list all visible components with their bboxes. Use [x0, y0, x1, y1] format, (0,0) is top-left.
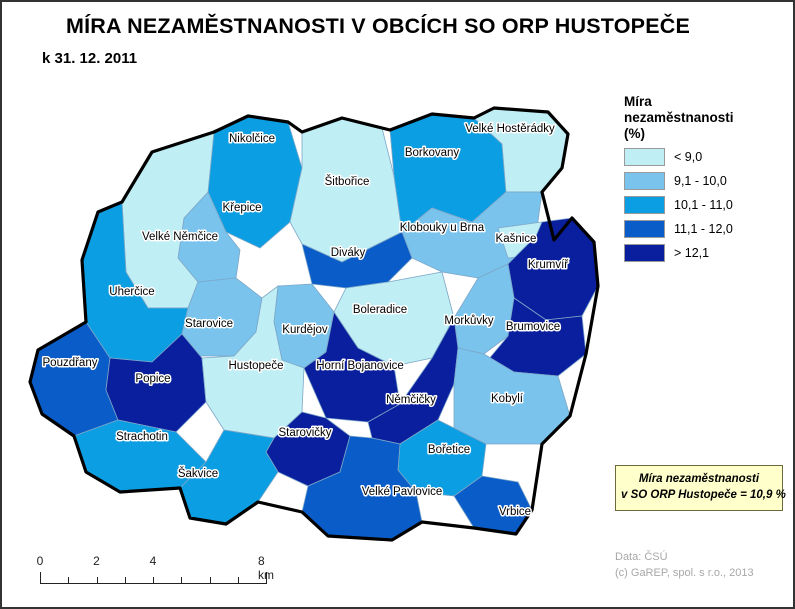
map-label-vrbice: Vrbice: [499, 506, 531, 518]
map-label-hustope-e: Hustopeče: [229, 360, 284, 372]
legend-swatch-4: [624, 244, 665, 262]
map-label-strachotin: Strachotin: [116, 431, 168, 443]
legend: Míra nezaměstnanosti (%) < 9,09,1 - 10,0…: [624, 94, 789, 262]
credits-copyright: (c) GaREP, spol. s r.o., 2013: [615, 566, 754, 582]
legend-label-4: > 12,1: [674, 246, 709, 260]
legend-heading: Míra nezaměstnanosti (%): [624, 94, 789, 142]
map-label-starovice: Starovice: [185, 318, 233, 330]
callout-line2: v SO ORP Hustopeče = 10,9 %: [621, 488, 777, 504]
callout-line1: Míra nezaměstnanosti: [621, 472, 777, 488]
map-label-mork-vky: Morkůvky: [444, 315, 493, 327]
legend-label-1: 9,1 - 10,0: [674, 174, 727, 188]
legend-item-0: < 9,0: [624, 148, 789, 166]
scale-tick-2: [97, 577, 98, 584]
scale-tick-3: [125, 577, 126, 584]
map-label-boleradice: Boleradice: [353, 304, 407, 316]
page-title: MÍRA NEZAMĚSTNANOSTI V OBCÍCH SO ORP HUS…: [66, 14, 690, 39]
scale-tick-0: [40, 572, 41, 584]
map-label-velk-n-m-ice: Velké Němčice: [142, 231, 218, 243]
map-label-velk-pavlovice: Velké Pavlovice: [362, 486, 443, 498]
map-label-uher-ice: Uherčice: [109, 286, 154, 298]
map-label--akvice: Šakvice: [178, 467, 218, 480]
map-label-starovi-ky: Starovičky: [278, 427, 331, 439]
map-label-velk-host-r-dky: Velké Hostěrádky: [465, 123, 555, 135]
legend-item-1: 9,1 - 10,0: [624, 172, 789, 190]
summary-callout: Míra nezaměstnanosti v SO ORP Hustopeče …: [615, 465, 783, 511]
page-subtitle: k 31. 12. 2011: [42, 50, 137, 67]
legend-label-3: 11,1 - 12,0: [674, 222, 733, 236]
map-label-brumovice: Brumovice: [506, 321, 560, 333]
scale-tick-8: [266, 572, 267, 584]
choropleth-map[interactable]: NikolčiceŠitbořiceBorkovanyVelké Hostěrá…: [2, 72, 602, 542]
map-label-horn-bojanovice: Horní Bojanovice: [316, 360, 404, 372]
map-label-div-ky: Diváky: [331, 247, 366, 259]
scale-tick-7: [238, 577, 239, 584]
legend-item-3: 11,1 - 12,0: [624, 220, 789, 238]
map-label-k-epice: Křepice: [223, 202, 262, 214]
map-label-bo-etice: Bořetice: [428, 444, 470, 456]
map-label--itbo-ice: Šitbořice: [325, 175, 370, 188]
map-label-popice: Popice: [135, 373, 170, 385]
legend-label-2: 10,1 - 11,0: [674, 198, 733, 212]
legend-heading-line2: nezaměstnanosti: [624, 110, 734, 125]
map-label-borkovany: Borkovany: [405, 147, 460, 159]
legend-heading-line1: Míra: [624, 94, 652, 109]
map-label-kurd-jov: Kurdějov: [282, 324, 328, 336]
credits-data-source: Data: ČSÚ: [615, 550, 754, 566]
map-svg[interactable]: NikolčiceŠitbořiceBorkovanyVelké Hostěrá…: [2, 72, 602, 542]
legend-swatch-0: [624, 148, 665, 166]
legend-swatch-1: [624, 172, 665, 190]
map-label-kobyl-: Kobylí: [491, 393, 524, 405]
credits: Data: ČSÚ (c) GaREP, spol. s r.o., 2013: [615, 550, 754, 582]
legend-swatch-3: [624, 220, 665, 238]
scale-label-2: 4: [150, 554, 157, 568]
scale-tick-1: [68, 577, 69, 584]
scale-label-0: 0: [37, 554, 44, 568]
legend-label-0: < 9,0: [674, 150, 702, 164]
scale-tick-5: [181, 577, 182, 584]
legend-item-2: 10,1 - 11,0: [624, 196, 789, 214]
map-label-ka-nice: Kašnice: [496, 233, 537, 245]
map-label-klobouky-u-brna: Klobouky u Brna: [400, 222, 485, 234]
map-label-krumv-: Krumvíř: [528, 259, 569, 271]
map-label-nikol-ice: Nikolčice: [229, 133, 275, 145]
scale-ticks: [40, 570, 266, 584]
map-figure: MÍRA NEZAMĚSTNANOSTI V OBCÍCH SO ORP HUS…: [0, 0, 795, 609]
scale-tick-6: [210, 577, 211, 584]
map-label-pouzd-any: Pouzdřany: [43, 357, 98, 369]
scale-bar: 0248 km: [40, 554, 266, 584]
scale-labels: 0248 km: [40, 554, 266, 570]
legend-rows: < 9,09,1 - 10,010,1 - 11,011,1 - 12,0> 1…: [624, 148, 789, 262]
map-label-n-m-i-ky: Němčičky: [386, 394, 436, 406]
legend-swatch-2: [624, 196, 665, 214]
legend-heading-line3: (%): [624, 126, 645, 141]
legend-item-4: > 12,1: [624, 244, 789, 262]
scale-tick-4: [153, 577, 154, 584]
scale-label-1: 2: [93, 554, 100, 568]
